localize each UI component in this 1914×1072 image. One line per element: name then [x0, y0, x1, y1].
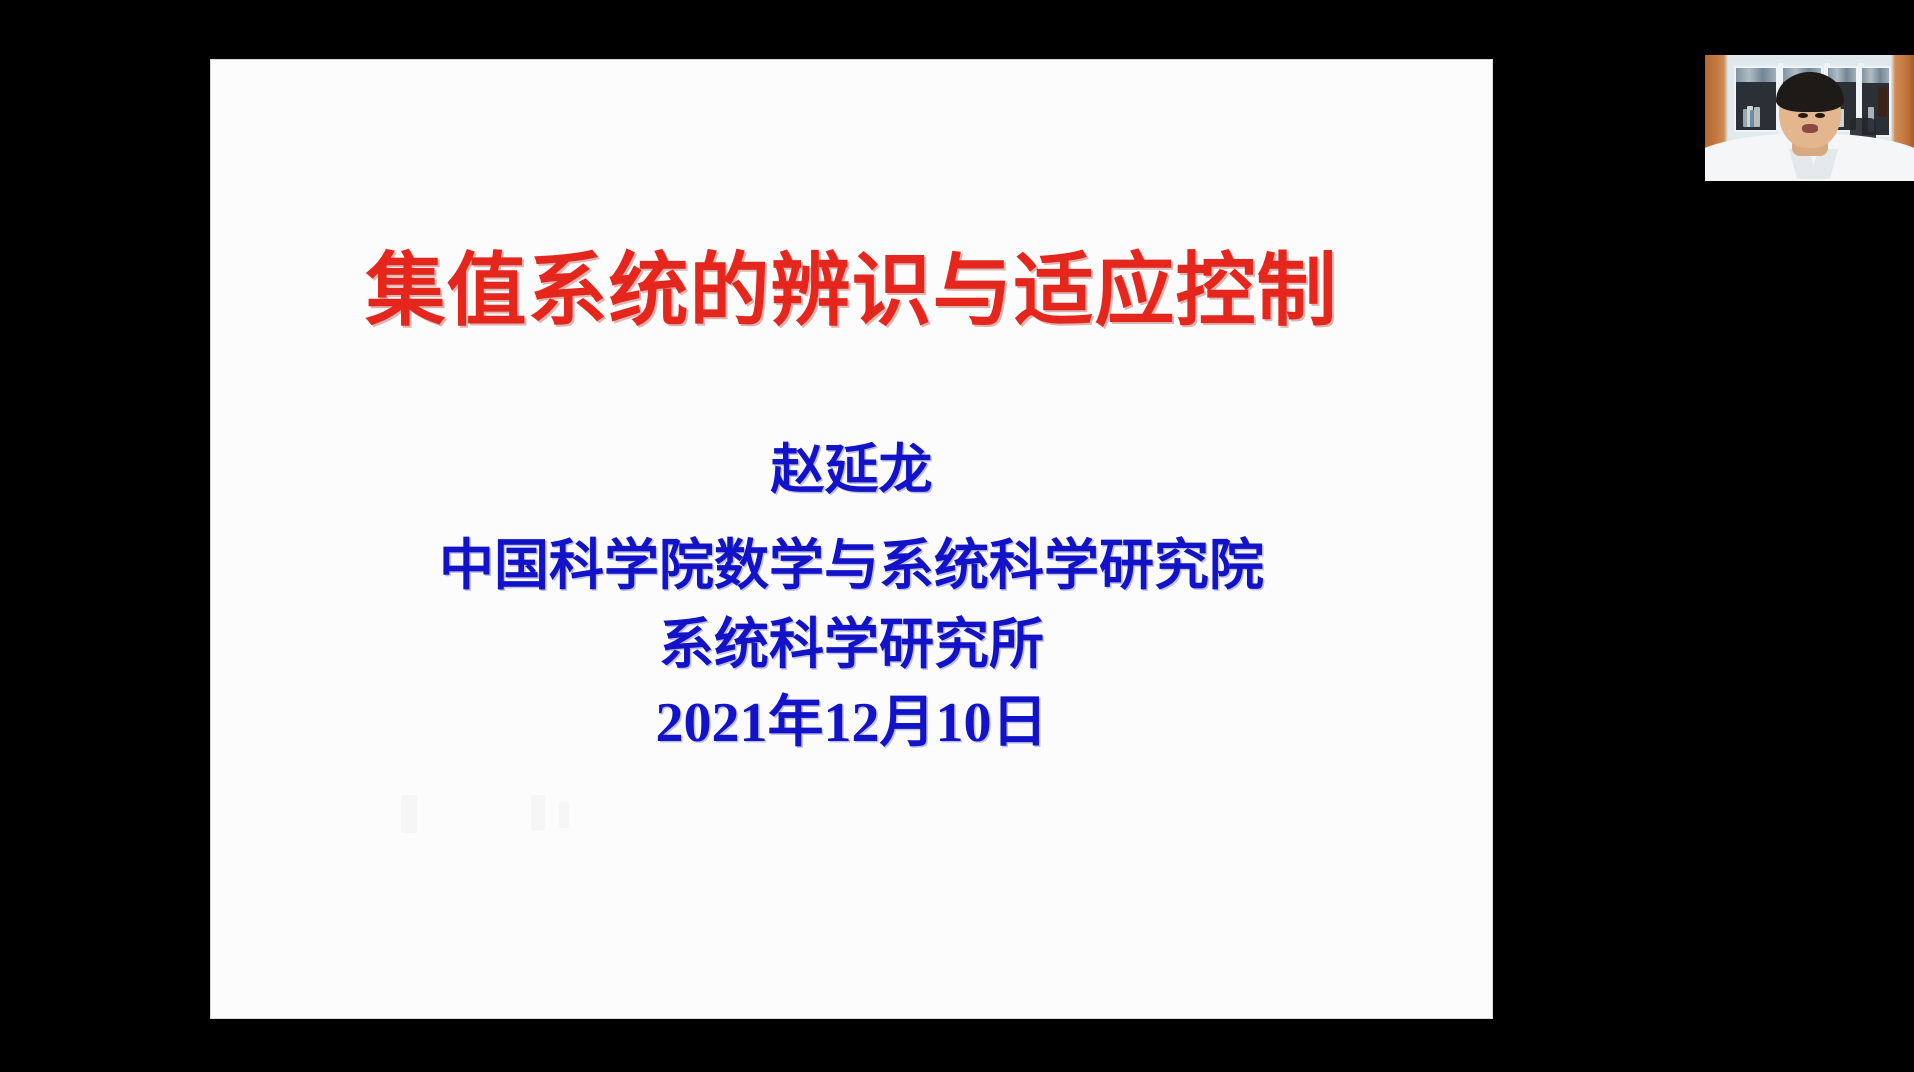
compression-artifact — [531, 795, 545, 831]
slide-title: 集值系统的辨识与适应控制 — [211, 248, 1492, 334]
presenter-figure — [1705, 85, 1914, 181]
mouth — [1802, 124, 1818, 133]
eye — [1815, 113, 1825, 118]
affiliation-line-institute: 中国科学院数学与系统科学研究院 — [211, 526, 1492, 605]
affiliation-line-department: 系统科学研究所 — [211, 605, 1492, 684]
affiliation-block: 中国科学院数学与系统科学研究院 系统科学研究所 2021年12月10日 — [211, 526, 1492, 763]
presenter-webcam-thumbnail[interactable] — [1705, 55, 1914, 181]
compression-artifact — [559, 802, 569, 828]
compression-artifact — [401, 795, 417, 833]
presentation-slide: 集值系统的辨识与适应控制 赵延龙 中国科学院数学与系统科学研究院 系统科学研究所… — [211, 60, 1492, 1018]
video-frame: 集值系统的辨识与适应控制 赵延龙 中国科学院数学与系统科学研究院 系统科学研究所… — [0, 0, 1914, 1072]
presenter-name: 赵延龙 — [211, 441, 1492, 500]
eye — [1798, 113, 1808, 118]
presentation-date: 2021年12月10日 — [211, 684, 1492, 763]
webcam-scene — [1705, 55, 1914, 181]
